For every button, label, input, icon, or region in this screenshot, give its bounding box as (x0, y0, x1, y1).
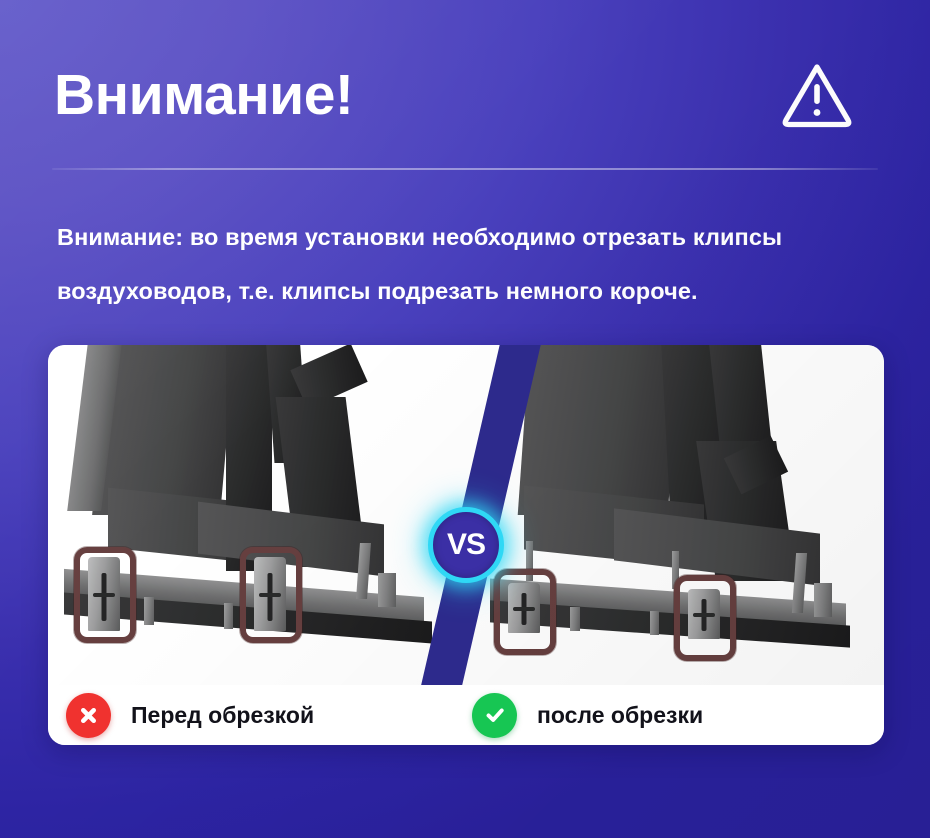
warning-infographic: Внимание! Внимание: во время установки н… (0, 0, 930, 838)
caption-row: Перед обрезкой после обрезки (48, 685, 884, 745)
comparison-card: VS Перед обрезкой после обрезки (48, 345, 884, 745)
caption-after: после обрезки (472, 689, 703, 741)
highlight-box-clip-2 (240, 547, 302, 643)
caption-after-label: после обрезки (537, 702, 703, 729)
caption-before-label: Перед обрезкой (131, 702, 314, 729)
cross-icon (66, 693, 111, 738)
air-duct-part-before (48, 345, 478, 685)
warning-paragraph: Внимание: во время установки необходимо … (57, 210, 883, 318)
check-icon (472, 693, 517, 738)
vs-badge: VS (428, 507, 504, 583)
photo-before-trimming (48, 345, 478, 685)
header: Внимание! (54, 52, 890, 138)
page-title: Внимание! (54, 52, 890, 138)
highlight-box-clip-2 (674, 575, 736, 661)
warning-triangle-icon (780, 58, 854, 128)
highlight-box-clip-1 (494, 569, 556, 655)
highlight-box-clip-1 (74, 547, 136, 643)
caption-before: Перед обрезкой (66, 689, 314, 741)
vs-label: VS (447, 530, 485, 560)
header-divider (52, 168, 878, 170)
